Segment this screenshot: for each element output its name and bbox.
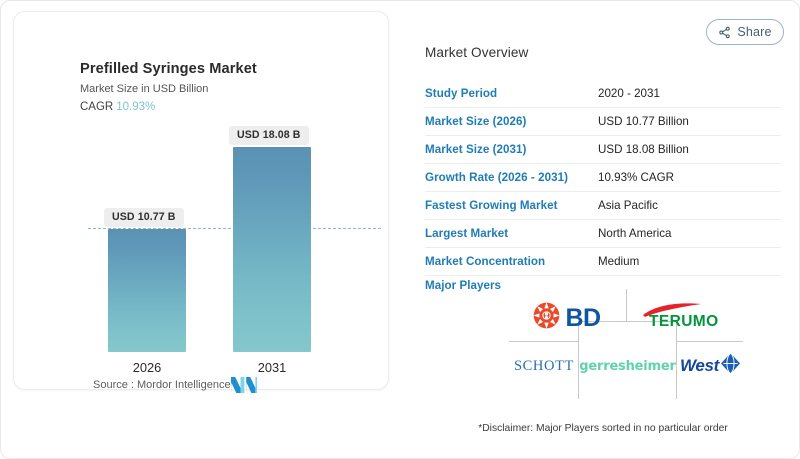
table-row: Growth Rate (2026 - 2031) 10.93% CAGR xyxy=(425,164,781,192)
logo-schott: SCHOTT xyxy=(509,351,579,381)
logo-bd: BD xyxy=(511,301,623,335)
bar-chart-plot-area: USD 10.77 B USD 18.08 B 2026 2031 xyxy=(78,124,378,352)
chart-cagr: CAGR10.93% xyxy=(80,101,155,113)
table-row: Study Period 2020 - 2031 xyxy=(425,80,781,108)
cagr-value: 10.93% xyxy=(116,101,155,113)
table-row: Largest Market North America xyxy=(425,220,781,248)
source-text: Source : Mordor Intelligence xyxy=(93,379,231,391)
svg-text:TERUMO: TERUMO xyxy=(649,313,719,330)
terumo-mark-icon: TERUMO xyxy=(635,301,737,336)
bar-value-label-2031: USD 18.08 B xyxy=(229,126,309,145)
table-row: Market Size (2031) USD 18.08 Billion xyxy=(425,136,781,164)
table-row: Fastest Growing Market Asia Pacific xyxy=(425,192,781,220)
chart-source-row: Source : Mordor Intelligence xyxy=(93,377,323,393)
bar-2031[interactable] xyxy=(233,147,311,352)
row-value-largest-market: North America xyxy=(598,227,671,240)
row-label-growth-rate: Growth Rate (2026 - 2031) xyxy=(425,171,598,184)
row-label-largest-market: Largest Market xyxy=(425,227,598,240)
share-nodes-icon xyxy=(718,26,731,39)
schott-wordmark: SCHOTT xyxy=(514,358,574,375)
table-row: Market Concentration Medium xyxy=(425,248,781,276)
row-label-market-concentration: Market Concentration xyxy=(425,255,598,268)
bar-value-label-2026: USD 10.77 B xyxy=(104,208,184,227)
chart-card: Prefilled Syringes Market Market Size in… xyxy=(13,11,389,390)
row-value-growth-rate: 10.93% CAGR xyxy=(598,171,674,184)
logo-terumo: TERUMO xyxy=(631,301,741,335)
major-players-logo-grid: BD TERUMO SCHOTT gerresheimer West xyxy=(509,289,743,399)
table-row: Market Size (2026) USD 10.77 Billion xyxy=(425,108,781,136)
report-page: Share Prefilled Syringes Market Market S… xyxy=(0,0,800,459)
row-value-fastest-growing-market: Asia Pacific xyxy=(598,199,658,212)
row-label-market-size-2026: Market Size (2026) xyxy=(425,115,598,128)
row-value-study-period: 2020 - 2031 xyxy=(598,87,660,100)
row-label-study-period: Study Period xyxy=(425,87,598,100)
chart-subtitle: Market Size in USD Billion xyxy=(80,83,208,95)
row-label-market-size-2031: Market Size (2031) xyxy=(425,143,598,156)
bd-wordmark: BD xyxy=(565,306,600,331)
market-overview-panel: Market Overview Study Period 2020 - 2031… xyxy=(425,45,781,302)
west-diamond-icon xyxy=(721,353,740,379)
x-axis-label-2031: 2031 xyxy=(233,360,311,375)
row-value-market-size-2026: USD 10.77 Billion xyxy=(598,115,689,128)
bd-mark-icon xyxy=(533,302,560,334)
bar-2026[interactable] xyxy=(108,229,186,352)
row-value-market-size-2031: USD 18.08 Billion xyxy=(598,143,689,156)
x-axis-label-2026: 2026 xyxy=(108,360,186,375)
chart-title: Prefilled Syringes Market xyxy=(80,61,257,77)
mordor-intelligence-logo xyxy=(231,377,257,393)
west-wordmark: West xyxy=(680,356,719,376)
gerresheimer-wordmark: gerresheimer xyxy=(579,359,675,374)
row-label-fastest-growing-market: Fastest Growing Market xyxy=(425,199,598,212)
share-button[interactable]: Share xyxy=(706,19,784,45)
market-overview-title: Market Overview xyxy=(425,45,781,60)
disclaimer-text: *Disclaimer: Major Players sorted in no … xyxy=(425,423,781,434)
share-button-label: Share xyxy=(737,25,771,39)
row-value-market-concentration: Medium xyxy=(598,255,639,268)
logo-west: West xyxy=(677,351,743,381)
cagr-label: CAGR xyxy=(80,101,113,113)
logo-gerresheimer: gerresheimer xyxy=(579,351,676,381)
